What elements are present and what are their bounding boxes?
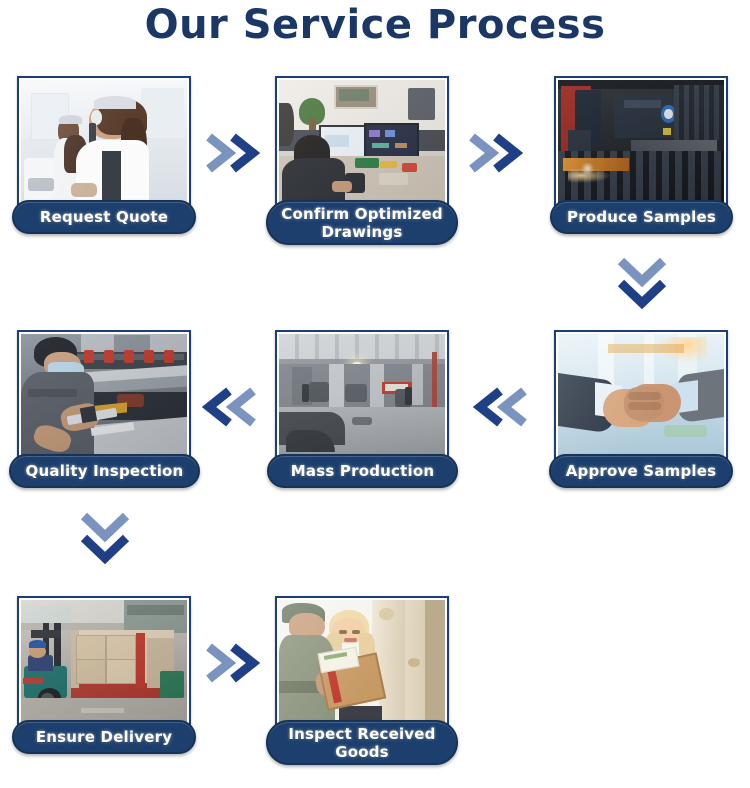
step-label-5[interactable]: Mass Production xyxy=(267,454,458,488)
step-card-8[interactable]: Inspect Received Goods xyxy=(275,596,449,776)
step-card-7[interactable]: Ensure Delivery xyxy=(17,596,191,776)
step-card-4[interactable]: Approve Samples xyxy=(554,330,728,510)
step-card-5[interactable]: Mass Production xyxy=(275,330,449,510)
step-card-2[interactable]: Confirm Optimized Drawings xyxy=(275,76,449,256)
step-label-6[interactable]: Quality Inspection xyxy=(9,454,200,488)
step-label-2[interactable]: Confirm Optimized Drawings xyxy=(266,200,458,245)
forklift-loading-photo xyxy=(17,596,191,730)
arrow-step7-to-step8-icon xyxy=(203,641,263,685)
step-label-8[interactable]: Inspect Received Goods xyxy=(266,720,458,765)
factory-floor-photo xyxy=(275,330,449,464)
arrow-step6-to-step7-icon xyxy=(78,510,132,572)
arrow-step2-to-step3-icon xyxy=(466,131,526,175)
step-card-3[interactable]: Produce Samples xyxy=(554,76,728,256)
step-card-6[interactable]: Quality Inspection xyxy=(17,330,191,510)
service-process-infographic: Our Service Process xyxy=(0,0,750,788)
laser-cutting-machine-photo xyxy=(554,76,728,210)
arrow-step1-to-step2-icon xyxy=(203,131,263,175)
handshake-photo xyxy=(554,330,728,464)
step-label-1[interactable]: Request Quote xyxy=(12,200,196,234)
package-delivery-photo xyxy=(275,596,449,730)
step-label-7[interactable]: Ensure Delivery xyxy=(12,720,196,754)
step-card-1[interactable]: Request Quote xyxy=(17,76,191,256)
call-center-agents-photo xyxy=(17,76,191,210)
arrow-step3-to-step4-icon xyxy=(615,255,669,317)
arrow-step5-to-step6-icon xyxy=(203,385,263,429)
arrow-step4-to-step5-icon xyxy=(474,385,534,429)
step-label-3[interactable]: Produce Samples xyxy=(550,200,733,234)
quality-inspection-photo xyxy=(17,330,191,464)
page-title: Our Service Process xyxy=(0,2,750,48)
step-label-4[interactable]: Approve Samples xyxy=(549,454,733,488)
cad-drawing-review-photo xyxy=(275,76,449,210)
